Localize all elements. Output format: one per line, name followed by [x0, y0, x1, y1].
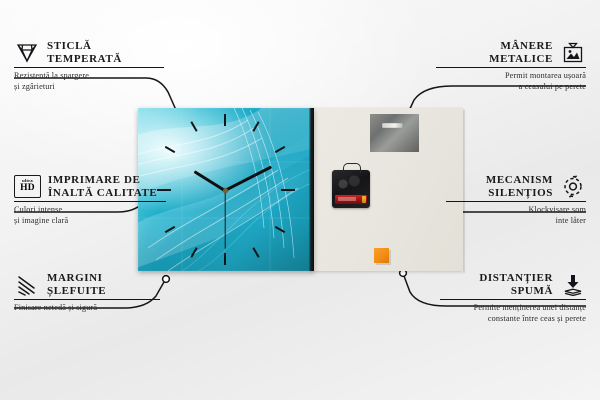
feature-sub-line1: Permit montarea ușoară	[436, 71, 586, 82]
metal-hanger-bracket	[370, 114, 419, 152]
feature-rule	[14, 201, 166, 202]
feature-sub-line1: Permite menținerea unei distanțe	[440, 303, 586, 314]
feature-foam-spacer: DISTANȚIER SPUMĂ Permite menținerea unei…	[440, 272, 586, 324]
feature-title-line1: MECANISM	[486, 174, 553, 187]
feature-silent-mechanism: MECANISM SILENȚIOS Klockvisare som inte …	[446, 174, 586, 226]
feature-rule	[14, 67, 164, 68]
infographic-stage: STICLĂ TEMPERATĂ Rezistentă la spargere …	[0, 0, 600, 400]
feature-title-line2: METALICE	[489, 53, 553, 66]
movement-detail	[337, 175, 365, 195]
feature-high-quality-print: ultra HD IMPRIMARE DE ÎNALTĂ CALITATE Cu…	[14, 174, 166, 226]
clock-tick	[224, 253, 226, 265]
down-arrow-stack-icon	[560, 273, 586, 297]
feature-sub-line2: constante între ceas și perete	[440, 314, 586, 325]
feature-title-line1: DISTANȚIER	[479, 272, 553, 285]
product-image	[138, 108, 463, 271]
feature-sub-line2: inte låter	[446, 216, 586, 227]
battery-label	[338, 197, 356, 201]
feature-title-line2: ÎNALTĂ CALITATE	[48, 187, 157, 200]
clock-center-cap	[223, 188, 228, 193]
feature-title-line2: ȘLEFUITE	[47, 285, 106, 298]
aa-battery	[335, 195, 367, 204]
feature-sub-line1: Finisare netedă și sigură	[14, 303, 160, 314]
ultra-hd-badge-icon: ultra HD	[14, 175, 41, 198]
feature-sub-line2: și zgârieturi	[14, 82, 164, 93]
feature-sub-line1: Klockvisare som	[446, 205, 586, 216]
battery-terminal	[362, 196, 366, 203]
feature-title-line2: TEMPERATĂ	[47, 53, 122, 66]
hanger-slot	[382, 123, 403, 128]
feature-sub-line2: și imagine clară	[14, 216, 166, 227]
clock-tick	[281, 189, 295, 191]
feature-sub-line1: Rezistentă la spargere	[14, 71, 164, 82]
clock-second-hand	[224, 190, 225, 248]
feature-metal-handles: MÂNERE METALICE Permit montarea ușoară a…	[436, 40, 586, 92]
feature-polished-edges: MARGINI ȘLEFUITE Finisare netedă și sigu…	[14, 272, 160, 314]
feature-title-line2: SPUMĂ	[479, 285, 553, 298]
feature-rule	[446, 201, 586, 202]
feature-tempered-glass: STICLĂ TEMPERATĂ Rezistentă la spargere …	[14, 40, 164, 92]
polished-edges-icon	[14, 273, 40, 297]
feature-rule	[436, 67, 586, 68]
feature-sub-line2: a ceasului pe perete	[436, 82, 586, 93]
feature-rule	[440, 299, 586, 300]
quartz-movement	[332, 170, 370, 208]
clock-tick	[224, 114, 226, 126]
feature-title-line1: MÂNERE	[489, 40, 553, 53]
picture-hanger-icon	[560, 41, 586, 65]
movement-hanging-loop	[343, 163, 361, 173]
glass-panel-edge	[309, 108, 314, 271]
clock-back-panel	[310, 108, 463, 271]
diamond-icon	[14, 41, 40, 65]
feature-rule	[14, 299, 160, 300]
feature-sub-line1: Culori intense	[14, 205, 166, 216]
leader-dot-edges	[163, 276, 170, 283]
feature-title-line1: STICLĂ	[47, 40, 122, 53]
feature-title-line1: MARGINI	[47, 272, 106, 285]
feature-title-line2: SILENȚIOS	[486, 187, 553, 200]
feature-title-line1: IMPRIMARE DE	[48, 174, 157, 187]
foam-spacer-pad	[374, 248, 389, 263]
gear-icon	[560, 174, 586, 199]
